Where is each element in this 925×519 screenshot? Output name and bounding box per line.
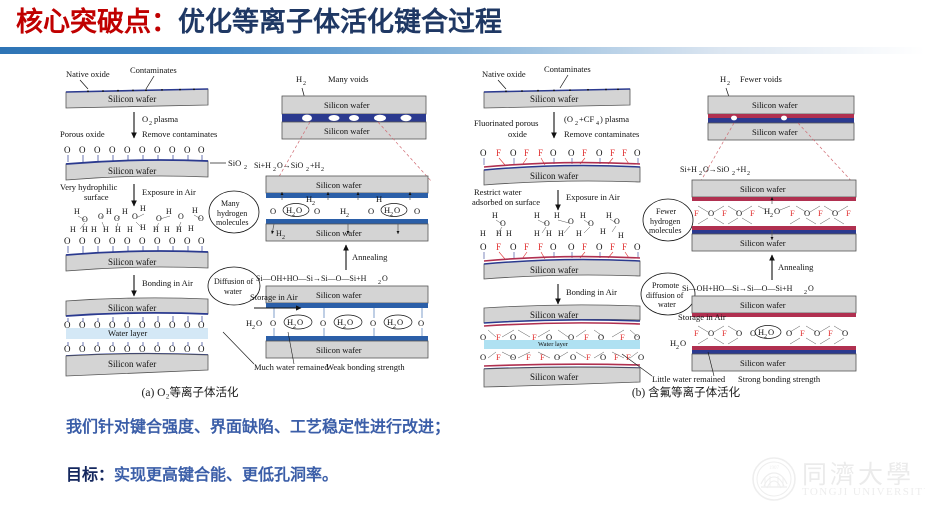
svg-text:Silicon wafer: Silicon wafer xyxy=(108,166,156,176)
svg-text:H: H xyxy=(554,211,560,220)
svg-text:Silicon wafer: Silicon wafer xyxy=(740,184,786,194)
svg-text:O: O xyxy=(480,352,486,362)
svg-text:F: F xyxy=(496,148,501,158)
svg-text:+H: +H xyxy=(310,161,321,170)
svg-text:Remove contaminates: Remove contaminates xyxy=(564,129,639,139)
svg-text:O: O xyxy=(550,242,557,252)
svg-text:O: O xyxy=(634,148,641,158)
svg-text:H: H xyxy=(106,207,112,216)
svg-text:H: H xyxy=(606,211,612,220)
svg-text:F: F xyxy=(496,332,501,342)
svg-text:H: H xyxy=(70,225,76,234)
svg-text:O: O xyxy=(169,236,176,246)
svg-text:O: O xyxy=(832,208,838,218)
svg-text:O: O xyxy=(394,205,400,215)
svg-text:O: O xyxy=(109,236,116,246)
svg-text:2: 2 xyxy=(390,212,393,218)
svg-text:O: O xyxy=(596,242,603,252)
svg-text:H: H xyxy=(618,231,624,240)
svg-text:Silicon wafer: Silicon wafer xyxy=(316,228,362,238)
svg-text:F: F xyxy=(610,148,615,158)
svg-text:Restrict water: Restrict water xyxy=(474,187,522,197)
svg-text:O: O xyxy=(184,145,191,155)
svg-text:O: O xyxy=(480,148,487,158)
svg-text:4: 4 xyxy=(596,121,599,127)
title-highlight: 核心突破点： xyxy=(16,7,178,38)
body-line-2-rest: 实现更高键合能、更低孔洞率。 xyxy=(114,465,338,484)
svg-text:2: 2 xyxy=(575,121,578,127)
svg-text:O: O xyxy=(79,236,86,246)
svg-text:O: O xyxy=(596,148,603,158)
svg-text:Silicon wafer: Silicon wafer xyxy=(530,265,578,275)
svg-text:Silicon wafer: Silicon wafer xyxy=(108,303,156,313)
svg-text:O: O xyxy=(347,317,353,327)
svg-text:O: O xyxy=(198,145,205,155)
title-main: 优化等离子体活化键合过程 xyxy=(178,7,502,38)
svg-text:Silicon wafer: Silicon wafer xyxy=(316,345,362,355)
svg-text:F: F xyxy=(582,242,587,252)
body-line-2-label: 目标： xyxy=(66,465,114,484)
svg-text:Much water remained: Much water remained xyxy=(254,362,329,372)
svg-text:O: O xyxy=(418,318,424,328)
svg-text:H: H xyxy=(376,194,382,204)
svg-text:O: O xyxy=(94,145,101,155)
figure-panel-a: Native oxide Contaminates Silicon wafer xyxy=(58,60,438,398)
svg-text:H: H xyxy=(534,229,540,238)
svg-text:hydrogen: hydrogen xyxy=(650,217,680,226)
svg-text:H: H xyxy=(576,229,582,238)
svg-text:Contaminates: Contaminates xyxy=(544,64,591,74)
svg-text:O: O xyxy=(808,284,814,293)
svg-text:Porous oxide: Porous oxide xyxy=(60,129,105,139)
svg-text:O: O xyxy=(296,205,302,215)
svg-text:F: F xyxy=(610,242,615,252)
svg-text:O: O xyxy=(94,236,101,246)
svg-text:O: O xyxy=(139,236,146,246)
svg-text:O: O xyxy=(178,212,184,221)
svg-text:2: 2 xyxy=(770,213,773,219)
svg-text:2: 2 xyxy=(727,81,730,87)
svg-text:plasma: plasma xyxy=(154,114,178,124)
svg-text:H: H xyxy=(127,225,133,234)
svg-text:hydrogen: hydrogen xyxy=(217,209,247,218)
slide-root: 核心突破点：优化等离子体活化键合过程 Native oxide Contamin xyxy=(0,0,925,519)
svg-text:H: H xyxy=(115,225,121,234)
svg-text:F: F xyxy=(496,242,501,252)
svg-text:O: O xyxy=(570,352,576,362)
svg-text:O: O xyxy=(184,236,191,246)
svg-text:Very hydrophilic: Very hydrophilic xyxy=(60,182,118,192)
svg-text:O: O xyxy=(198,214,204,223)
svg-text:O: O xyxy=(82,215,88,224)
svg-text:Contaminates: Contaminates xyxy=(130,65,177,75)
svg-text:O: O xyxy=(79,344,86,354)
svg-text:Water layer: Water layer xyxy=(108,328,147,338)
svg-text:O: O xyxy=(270,206,276,216)
slide-title-bar: 核心突破点：优化等离子体活化键合过程 xyxy=(0,0,925,46)
svg-text:Fewer: Fewer xyxy=(656,207,676,216)
svg-text:O: O xyxy=(169,320,176,330)
svg-text:2: 2 xyxy=(321,167,324,173)
svg-text:F: F xyxy=(750,208,755,218)
svg-text:Water layer: Water layer xyxy=(538,341,569,348)
svg-text:H: H xyxy=(720,74,726,84)
svg-text:F: F xyxy=(532,332,537,342)
svg-text:Silicon wafer: Silicon wafer xyxy=(740,238,786,248)
svg-text:Storage in Air: Storage in Air xyxy=(678,312,726,322)
svg-text:O: O xyxy=(169,145,176,155)
svg-text:O: O xyxy=(142,114,148,124)
svg-text:O: O xyxy=(94,320,101,330)
svg-text:O: O xyxy=(154,320,161,330)
body-line-2: 目标：实现更高键合能、更低孔洞率。 xyxy=(66,461,338,485)
svg-text:Fewer voids: Fewer voids xyxy=(740,74,782,84)
svg-text:O: O xyxy=(154,344,161,354)
svg-text:Silicon wafer: Silicon wafer xyxy=(530,94,578,104)
svg-text:H: H xyxy=(296,74,302,84)
svg-text:O: O xyxy=(94,344,101,354)
svg-text:F: F xyxy=(538,148,543,158)
svg-text:F: F xyxy=(586,352,591,362)
svg-text:H: H xyxy=(166,207,172,216)
svg-text:H: H xyxy=(600,227,606,236)
svg-text:H: H xyxy=(140,223,146,232)
figure-a-caption: (a) O₂等离子体活化 xyxy=(0,384,380,400)
svg-text:Annealing: Annealing xyxy=(778,262,814,272)
svg-text:O: O xyxy=(634,332,640,342)
svg-text:2: 2 xyxy=(346,213,349,219)
svg-text:O: O xyxy=(774,206,780,216)
page-title: 核心突破点：优化等离子体活化键合过程 xyxy=(16,6,502,40)
svg-text:O: O xyxy=(736,328,742,338)
logo-english-name: TONGJI UNIVERSITY xyxy=(802,486,925,498)
svg-text:Bonding in Air: Bonding in Air xyxy=(142,278,193,288)
svg-text:O: O xyxy=(804,208,810,218)
svg-text:Silicon wafer: Silicon wafer xyxy=(108,359,156,369)
svg-text:Si+H: Si+H xyxy=(680,165,697,174)
svg-text:Storage in Air: Storage in Air xyxy=(250,292,298,302)
svg-text:Many voids: Many voids xyxy=(328,74,368,84)
svg-text:O: O xyxy=(480,242,487,252)
seal-year: 1907 xyxy=(769,466,780,471)
svg-text:O: O xyxy=(64,344,71,354)
svg-text:Si+H: Si+H xyxy=(254,161,271,170)
svg-text:H: H xyxy=(153,225,159,234)
svg-text:Silicon wafer: Silicon wafer xyxy=(324,100,370,110)
svg-text:O: O xyxy=(550,148,557,158)
svg-text:H: H xyxy=(506,229,512,238)
svg-text:O: O xyxy=(680,338,686,348)
svg-text:Silicon wafer: Silicon wafer xyxy=(752,100,798,110)
svg-text:O: O xyxy=(634,242,641,252)
svg-text:2: 2 xyxy=(306,167,309,173)
svg-text:O: O xyxy=(132,212,138,221)
svg-text:F: F xyxy=(622,148,627,158)
svg-text:2: 2 xyxy=(149,121,152,127)
svg-text:2: 2 xyxy=(699,171,702,177)
svg-text:F: F xyxy=(722,208,727,218)
svg-text:O: O xyxy=(139,344,146,354)
svg-text:O: O xyxy=(614,217,620,226)
svg-text:2: 2 xyxy=(282,235,285,241)
svg-text:oxide: oxide xyxy=(508,129,527,139)
svg-text:H: H xyxy=(480,229,486,238)
svg-text:O: O xyxy=(169,344,176,354)
svg-text:F: F xyxy=(694,328,699,338)
svg-text:Si—OH+HO—Si→Si—O—Si+H: Si—OH+HO—Si→Si—O—Si+H xyxy=(256,274,367,283)
svg-text:O: O xyxy=(154,145,161,155)
svg-text:O: O xyxy=(568,242,575,252)
svg-text:O: O xyxy=(109,145,116,155)
svg-text:Native oxide: Native oxide xyxy=(482,69,526,79)
svg-text:2: 2 xyxy=(293,324,296,330)
svg-text:F: F xyxy=(800,328,805,338)
svg-text:O: O xyxy=(786,328,792,338)
svg-text:O: O xyxy=(600,352,606,362)
svg-text:H: H xyxy=(140,204,146,213)
svg-text:O: O xyxy=(256,318,262,328)
svg-text:diffusion of: diffusion of xyxy=(646,291,684,300)
svg-text:O: O xyxy=(64,236,71,246)
svg-text:O: O xyxy=(708,208,714,218)
svg-text:Silicon wafer: Silicon wafer xyxy=(316,180,362,190)
svg-text:O: O xyxy=(314,206,320,216)
diagram-o2-plasma: Native oxide Contaminates Silicon wafer xyxy=(58,60,438,398)
svg-text:F: F xyxy=(524,242,529,252)
svg-text:O: O xyxy=(124,236,131,246)
svg-text:O: O xyxy=(184,320,191,330)
svg-text:Fluorinated porous: Fluorinated porous xyxy=(474,118,538,128)
svg-text:O: O xyxy=(64,145,71,155)
svg-text:O: O xyxy=(568,332,574,342)
svg-text:Exposure in Air: Exposure in Air xyxy=(142,187,196,197)
svg-text:2: 2 xyxy=(252,325,255,331)
svg-text:O: O xyxy=(270,318,276,328)
svg-text:2: 2 xyxy=(312,201,315,207)
svg-text:O: O xyxy=(638,352,644,362)
svg-text:H: H xyxy=(496,229,502,238)
svg-text:O: O xyxy=(184,344,191,354)
svg-text:O: O xyxy=(370,318,376,328)
svg-text:F: F xyxy=(622,242,627,252)
svg-text:Silicon wafer: Silicon wafer xyxy=(530,310,578,320)
diagram-fluorine-plasma: Native oxide Contaminates Silicon wafer xyxy=(472,60,867,398)
title-divider xyxy=(0,47,925,54)
figure-b-caption: (b) 含氟等离子体活化 xyxy=(536,384,836,400)
svg-text:Strong bonding strength: Strong bonding strength xyxy=(738,374,821,384)
svg-text:Native oxide: Native oxide xyxy=(66,69,110,79)
svg-text:O: O xyxy=(382,274,388,283)
svg-text:F: F xyxy=(538,242,543,252)
svg-text:O: O xyxy=(568,217,574,226)
svg-text:2: 2 xyxy=(378,280,381,286)
svg-text:O: O xyxy=(397,317,403,327)
svg-text:Exposure in Air: Exposure in Air xyxy=(566,192,620,202)
svg-text:O: O xyxy=(198,344,205,354)
svg-text:O: O xyxy=(842,328,848,338)
svg-text:O: O xyxy=(297,317,303,327)
svg-text:O: O xyxy=(736,208,742,218)
svg-text:O: O xyxy=(114,214,120,223)
svg-text:H: H xyxy=(122,207,128,216)
svg-text:Promote: Promote xyxy=(652,281,680,290)
svg-text:2: 2 xyxy=(804,290,807,296)
svg-text:Silicon wafer: Silicon wafer xyxy=(108,257,156,267)
svg-text:(O: (O xyxy=(564,114,573,124)
svg-text:Bonding in Air: Bonding in Air xyxy=(566,287,617,297)
svg-text:water: water xyxy=(658,300,676,309)
svg-text:molecules: molecules xyxy=(216,218,248,227)
svg-text:Silicon wafer: Silicon wafer xyxy=(740,358,786,368)
svg-text:O→SiO: O→SiO xyxy=(277,161,303,170)
svg-text:O: O xyxy=(480,332,486,342)
svg-text:O: O xyxy=(568,148,575,158)
svg-text:Silicon wafer: Silicon wafer xyxy=(530,372,578,382)
svg-text:H: H xyxy=(82,225,88,234)
svg-text:O: O xyxy=(708,328,714,338)
svg-text:F: F xyxy=(626,352,631,362)
tongji-university-logo: 1907 同濟大學 TONGJI UNIVERSITY xyxy=(752,455,912,511)
svg-text:O: O xyxy=(98,212,104,221)
svg-text:F: F xyxy=(846,208,851,218)
svg-text:molecules: molecules xyxy=(649,226,681,235)
svg-text:O: O xyxy=(510,352,516,362)
svg-text:O: O xyxy=(510,332,516,342)
svg-text:F: F xyxy=(496,352,501,362)
svg-text:+CF: +CF xyxy=(579,114,594,124)
svg-text:F: F xyxy=(790,208,795,218)
svg-text:F: F xyxy=(694,208,699,218)
svg-text:Remove contaminates: Remove contaminates xyxy=(142,129,217,139)
svg-text:O: O xyxy=(320,318,326,328)
svg-text:O: O xyxy=(510,242,517,252)
svg-text:2: 2 xyxy=(273,167,276,173)
svg-text:Many: Many xyxy=(221,199,240,208)
svg-text:H: H xyxy=(546,229,552,238)
svg-text:O: O xyxy=(814,328,820,338)
svg-text:Silicon wafer: Silicon wafer xyxy=(108,94,156,104)
svg-text:O: O xyxy=(768,327,774,337)
svg-text:2: 2 xyxy=(303,81,306,87)
svg-text:O: O xyxy=(64,320,71,330)
svg-text:H: H xyxy=(188,224,194,233)
svg-text:O: O xyxy=(198,236,205,246)
svg-text:Annealing: Annealing xyxy=(352,252,388,262)
svg-text:2: 2 xyxy=(732,171,735,177)
svg-text:O: O xyxy=(124,145,131,155)
svg-text:O: O xyxy=(139,145,146,155)
svg-text:O: O xyxy=(124,344,131,354)
svg-text:2: 2 xyxy=(764,334,767,340)
svg-text:Silicon wafer: Silicon wafer xyxy=(530,171,578,181)
svg-text:H: H xyxy=(492,211,498,220)
svg-text:O: O xyxy=(79,145,86,155)
svg-text:H: H xyxy=(74,207,80,216)
svg-text:F: F xyxy=(828,328,833,338)
svg-text:F: F xyxy=(818,208,823,218)
svg-text:surface: surface xyxy=(84,192,109,202)
svg-text:water: water xyxy=(224,287,242,296)
svg-text:2: 2 xyxy=(244,165,247,171)
svg-text:H: H xyxy=(91,225,97,234)
tongji-seal-icon: 1907 xyxy=(752,457,796,501)
svg-text:O: O xyxy=(368,206,374,216)
svg-text:Silicon wafer: Silicon wafer xyxy=(752,127,798,137)
svg-text:O→SiO: O→SiO xyxy=(703,165,729,174)
svg-text:2: 2 xyxy=(747,171,750,177)
svg-text:O: O xyxy=(154,236,161,246)
svg-text:adsorbed on surface: adsorbed on surface xyxy=(472,197,540,207)
svg-text:F: F xyxy=(582,148,587,158)
svg-text:O: O xyxy=(109,344,116,354)
svg-text:O: O xyxy=(79,320,86,330)
figure-area: Native oxide Contaminates Silicon wafer xyxy=(0,60,925,400)
svg-text:2: 2 xyxy=(343,324,346,330)
svg-text:2: 2 xyxy=(676,345,679,351)
svg-text:F: F xyxy=(584,332,589,342)
svg-text:SiO: SiO xyxy=(228,158,241,168)
svg-text:Weak bonding strength: Weak bonding strength xyxy=(326,362,405,372)
svg-text:O: O xyxy=(414,206,420,216)
body-line-1: 我们针对键合强度、界面缺陷、工艺稳定性进行改进； xyxy=(66,413,450,437)
figure-panel-b: Native oxide Contaminates Silicon wafer xyxy=(472,60,867,398)
svg-text:Silicon wafer: Silicon wafer xyxy=(740,300,786,310)
svg-text:H: H xyxy=(164,225,170,234)
svg-text:Silicon wafer: Silicon wafer xyxy=(316,290,362,300)
svg-text:Diffusion of: Diffusion of xyxy=(214,277,254,286)
svg-text:O: O xyxy=(510,148,517,158)
svg-text:H: H xyxy=(534,211,540,220)
svg-text:) plasma: ) plasma xyxy=(600,114,629,124)
svg-text:F: F xyxy=(722,328,727,338)
svg-text:2: 2 xyxy=(292,212,295,218)
svg-text:2: 2 xyxy=(393,324,396,330)
svg-text:F: F xyxy=(524,148,529,158)
svg-text:+H: +H xyxy=(736,165,747,174)
svg-text:O: O xyxy=(198,320,205,330)
svg-text:Silicon wafer: Silicon wafer xyxy=(324,126,370,136)
svg-text:F: F xyxy=(620,332,625,342)
svg-text:Little water remained: Little water remained xyxy=(652,374,726,384)
svg-text:Si—OH+HO—Si→Si—O—Si+H: Si—OH+HO—Si→Si—O—Si+H xyxy=(682,284,793,293)
svg-text:H: H xyxy=(558,229,564,238)
svg-text:H: H xyxy=(580,211,586,220)
